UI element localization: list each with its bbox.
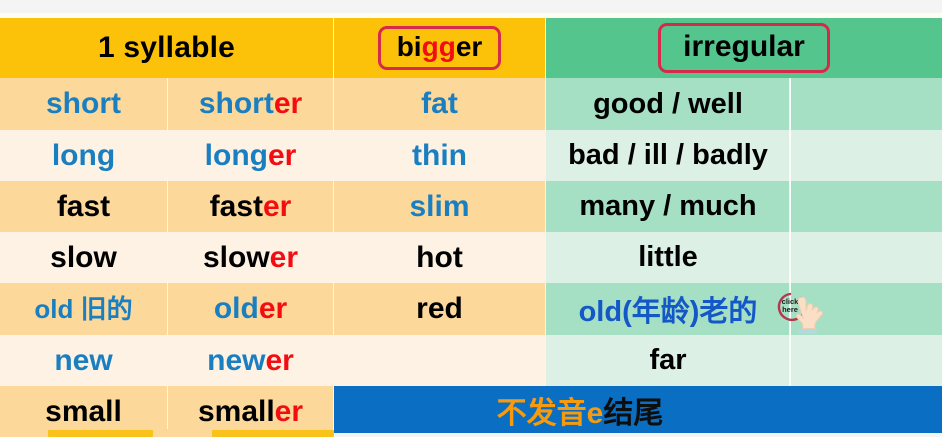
header-label-syllable: 1 syllable <box>98 31 235 65</box>
cell-comparative: older <box>168 283 333 335</box>
table-grid: 1 syllable bigger irregular short shorte… <box>0 18 942 437</box>
comparative-suffix: er <box>274 87 302 120</box>
comparative-adjectives-table: 1 syllable bigger irregular short shorte… <box>0 0 942 437</box>
table-row: long longer thin bad / ill / badly <box>0 130 942 181</box>
next-row-highlight-right <box>212 430 334 437</box>
word-third: red <box>416 294 463 324</box>
word-base: small <box>45 397 122 427</box>
word-comparative: slower <box>203 243 298 273</box>
header-cell-irregular: irregular <box>546 18 942 78</box>
comparative-stem: small <box>198 395 275 428</box>
word-comparative: smaller <box>198 397 303 427</box>
cell-irregular-spare <box>791 181 942 232</box>
comparative-stem: new <box>207 344 265 377</box>
column-divider <box>789 78 791 130</box>
cell-third-adjective: hot <box>334 232 545 283</box>
word-irregular: many / much <box>579 190 756 223</box>
word-base: fast <box>57 192 110 222</box>
cell-third-adjective <box>334 335 545 386</box>
word-comparative: newer <box>207 346 294 376</box>
column-divider <box>789 181 791 232</box>
cell-comparative: shorter <box>168 78 333 130</box>
cell-comparative: slower <box>168 232 333 283</box>
header-label-irregular: irregular <box>658 23 830 73</box>
cell-irregular-spare <box>791 283 942 335</box>
column-divider <box>789 130 791 181</box>
cell-irregular-spare <box>791 78 942 130</box>
banner-orange-part: 不发音e <box>497 397 604 430</box>
cell-base-adjective: new <box>0 335 167 386</box>
word-third: slim <box>409 192 469 222</box>
cell-irregular-spare <box>791 130 942 181</box>
bigger-part-3: er <box>456 31 482 62</box>
cell-third-adjective: thin <box>334 130 545 181</box>
cell-irregular: far <box>546 335 790 386</box>
word-irregular: far <box>649 344 686 377</box>
cell-base-adjective: slow <box>0 232 167 283</box>
word-irregular: good / well <box>593 88 743 121</box>
cell-third-adjective: fat <box>334 78 545 130</box>
silent-e-banner: 不发音e结尾 <box>334 386 942 433</box>
cell-irregular: bad / ill / badly <box>546 130 790 181</box>
cell-irregular-spare <box>791 232 942 283</box>
table-row: fast faster slim many / much <box>0 181 942 232</box>
word-irregular: little <box>638 241 698 274</box>
word-irregular: bad / ill / badly <box>568 139 768 172</box>
cell-base-adjective: old 旧的 <box>0 283 167 335</box>
comparative-suffix: er <box>263 190 291 223</box>
table-row: new newer far <box>0 335 942 386</box>
banner-black-part: 结尾 <box>603 397 663 430</box>
word-irregular: old(年龄)老的 <box>579 288 758 330</box>
table-header-row: 1 syllable bigger irregular <box>0 18 942 78</box>
word-base: slow <box>50 243 117 273</box>
word-third: fat <box>421 89 458 119</box>
comparative-suffix: er <box>259 292 287 325</box>
comparative-stem: old <box>214 292 259 325</box>
cell-third-adjective: slim <box>334 181 545 232</box>
word-comparative: shorter <box>199 89 302 119</box>
word-third: hot <box>416 243 463 273</box>
cell-comparative: longer <box>168 130 333 181</box>
word-third: thin <box>412 141 467 171</box>
header-cell-bigger: bigger <box>334 18 545 78</box>
bigger-part-2: gg <box>422 31 456 62</box>
comparative-suffix: er <box>275 395 303 428</box>
cell-irregular: old(年龄)老的 <box>546 283 790 335</box>
cell-comparative: newer <box>168 335 333 386</box>
column-divider <box>789 283 791 335</box>
cell-irregular: little <box>546 232 790 283</box>
comparative-stem: long <box>205 139 268 172</box>
cell-base-adjective: fast <box>0 181 167 232</box>
table-row: old 旧的 older red old(年龄)老的 click her <box>0 283 942 335</box>
column-divider <box>789 335 791 386</box>
word-base: old 旧的 <box>34 296 132 322</box>
cell-irregular: many / much <box>546 181 790 232</box>
header-cell-syllable: 1 syllable <box>0 18 333 78</box>
comparative-stem: fast <box>210 190 263 223</box>
word-comparative: faster <box>210 192 292 222</box>
table-row: short shorter fat good / well <box>0 78 942 130</box>
word-base: long <box>52 141 115 171</box>
cell-base-adjective: short <box>0 78 167 130</box>
cell-irregular: good / well <box>546 78 790 130</box>
cell-comparative: faster <box>168 181 333 232</box>
cell-third-adjective: red <box>334 283 545 335</box>
comparative-suffix: er <box>270 241 298 274</box>
comparative-stem: slow <box>203 241 270 274</box>
word-base: short <box>46 89 121 119</box>
word-comparative: older <box>214 294 287 324</box>
comparative-stem: short <box>199 87 274 120</box>
silent-e-banner-text: 不发音e结尾 <box>497 388 664 432</box>
column-divider <box>789 232 791 283</box>
comparative-suffix: er <box>268 139 296 172</box>
bigger-part-1: bi <box>397 31 422 62</box>
cell-base-adjective: long <box>0 130 167 181</box>
next-row-highlight-left <box>48 430 153 437</box>
word-base: new <box>54 346 112 376</box>
header-label-bigger: bigger <box>378 26 502 69</box>
cell-irregular-spare <box>791 335 942 386</box>
table-row: slow slower hot little <box>0 232 942 283</box>
comparative-suffix: er <box>266 344 294 377</box>
word-comparative: longer <box>205 141 297 171</box>
